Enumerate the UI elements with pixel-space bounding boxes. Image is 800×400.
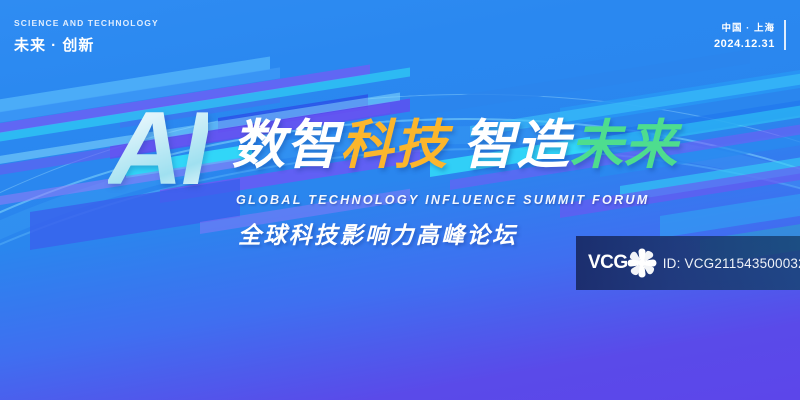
main-headline: 数智科技智造未来 [232, 118, 678, 174]
brand-chinese-tagline: 未来 · 创新 [14, 34, 159, 55]
vcg-image-id: ID: VCG211543500032 [663, 256, 800, 271]
headline-segment-zhizao: 智造 [462, 116, 570, 175]
brand-lockup: SCIENCE AND TECHNOLOGY 未来 · 创新 [14, 18, 159, 55]
event-location: 中国 · 上海 [714, 20, 775, 34]
event-date: 2024.12.31 [714, 38, 775, 50]
english-subtitle: GLOBAL TECHNOLOGY INFLUENCE SUMMIT FORUM [236, 193, 649, 207]
brand-english-tagline: SCIENCE AND TECHNOLOGY [14, 18, 159, 28]
hero-content: AI 数智科技智造未来 GLOBAL TECHNOLOGY INFLUENCE … [0, 0, 800, 400]
starburst-icon [625, 246, 659, 280]
vcg-watermark: VCG ID: VCG211543500032 [576, 236, 800, 290]
headline-segment-shuzhi: 数智 [232, 116, 340, 175]
headline-segment-weilai: 未来 [570, 116, 678, 175]
vcg-logo-text: VCG [588, 252, 628, 274]
ai-logo-text: AI [108, 97, 208, 201]
chinese-subtitle: 全球科技影响力高峰论坛 [238, 216, 517, 250]
headline-segment-keji: 科技 [340, 116, 448, 175]
event-meta: 中国 · 上海 2024.12.31 [714, 20, 786, 50]
event-banner: SCIENCE AND TECHNOLOGY 未来 · 创新 中国 · 上海 2… [0, 0, 800, 400]
